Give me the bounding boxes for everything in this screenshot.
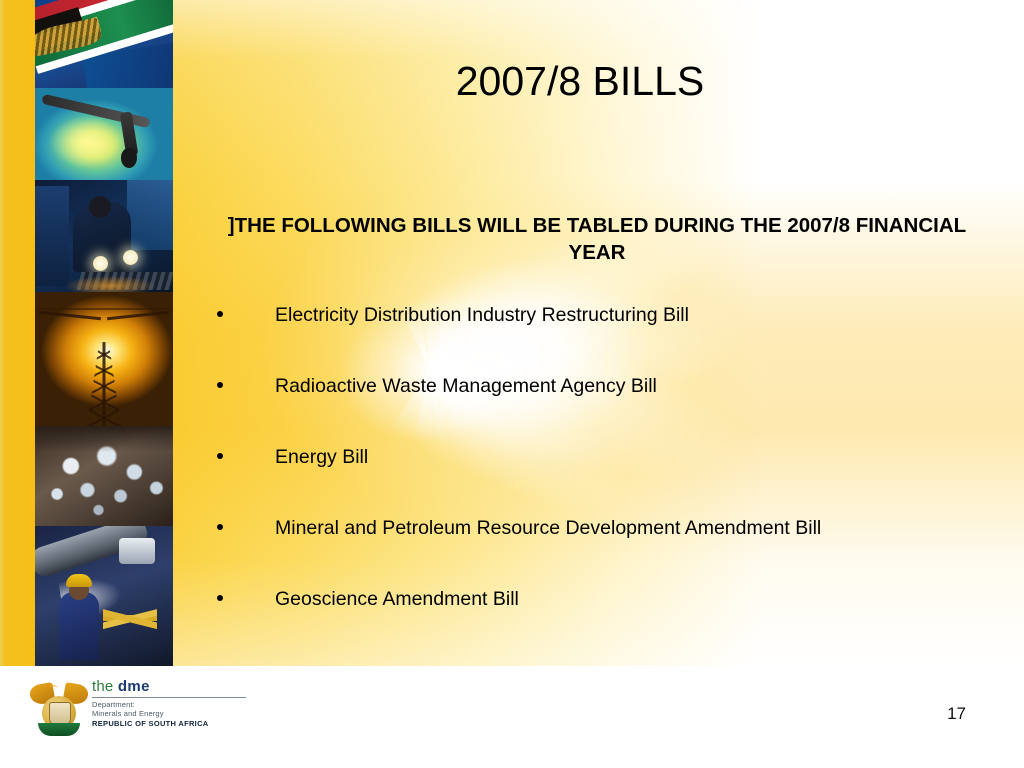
- bullet-icon: [217, 382, 223, 388]
- south-african-flag-photo: [35, 0, 173, 88]
- bullet-icon: [217, 453, 223, 459]
- bill-list: Electricity Distribution Industry Restru…: [212, 302, 1002, 613]
- bullet-icon: [217, 524, 223, 530]
- mineral-crystals-photo: [35, 426, 173, 526]
- list-item: Mineral and Petroleum Resource Developme…: [212, 515, 1002, 542]
- dme-department-block: Department: Minerals and Energy REPUBLIC…: [92, 700, 260, 728]
- list-item-label: Radioactive Waste Management Agency Bill: [275, 373, 1002, 400]
- dme-brand-name: dme: [118, 678, 150, 695]
- dme-logo: the dme Department: Minerals and Energy …: [30, 676, 260, 740]
- dme-country-line: REPUBLIC OF SOUTH AFRICA: [92, 719, 209, 728]
- worker-control-panel-photo: [35, 180, 173, 292]
- list-item: Electricity Distribution Industry Restru…: [212, 302, 1002, 329]
- laboratory-lamp-photo: [35, 88, 173, 180]
- slide-subtitle: ]THE FOLLOWING BILLS WILL BE TABLED DURI…: [212, 212, 982, 266]
- slide-canvas: 2007/8 BILLS ]THE FOLLOWING BILLS WILL B…: [0, 0, 1024, 666]
- miner-surveying-equipment-photo: [35, 526, 173, 666]
- list-item: Radioactive Waste Management Agency Bill: [212, 373, 1002, 400]
- south-african-coat-of-arms-icon: [30, 676, 88, 738]
- page-number: 17: [947, 704, 966, 724]
- slide-footer: the dme Department: Minerals and Energy …: [0, 666, 1024, 768]
- list-item: Energy Bill: [212, 444, 1002, 471]
- left-accent-band: [0, 0, 36, 666]
- presentation-slide: 2007/8 BILLS ]THE FOLLOWING BILLS WILL B…: [0, 0, 1024, 768]
- list-item-label: Energy Bill: [275, 444, 1002, 471]
- list-item-label: Electricity Distribution Industry Restru…: [275, 302, 1002, 329]
- dme-logo-text: the dme Department: Minerals and Energy …: [92, 678, 260, 728]
- dme-brand-the: the: [92, 678, 118, 695]
- slide-title: 2007/8 BILLS: [180, 58, 980, 105]
- electricity-pylons-sunburst-photo: [35, 292, 173, 426]
- bullet-icon: [217, 595, 223, 601]
- dme-department-line: Department:: [92, 700, 260, 709]
- dme-portfolio-line: Minerals and Energy: [92, 709, 260, 718]
- dme-brand: the dme: [92, 678, 260, 695]
- logo-divider: [92, 697, 246, 698]
- list-item-label: Mineral and Petroleum Resource Developme…: [275, 515, 1002, 542]
- list-item: Geoscience Amendment Bill: [212, 586, 1002, 613]
- sidebar-photo-strip: [35, 0, 173, 666]
- bullet-icon: [217, 311, 223, 317]
- list-item-label: Geoscience Amendment Bill: [275, 586, 1002, 613]
